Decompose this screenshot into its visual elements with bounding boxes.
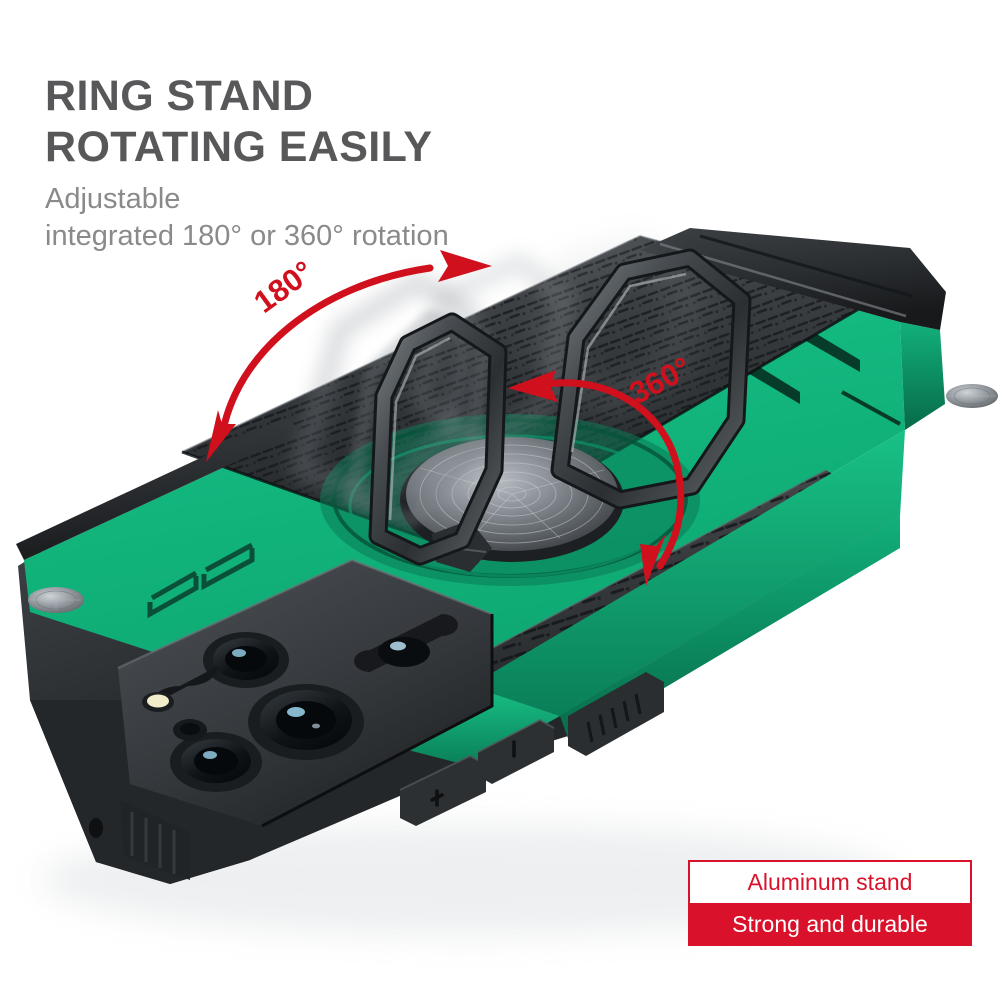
screw-accent-left <box>28 587 84 613</box>
headline-line-1: RING STAND <box>45 72 313 120</box>
camera-lens-top <box>203 632 289 688</box>
feature-badge: Aluminum stand Strong and durable <box>688 860 972 946</box>
camera-lens-main <box>248 684 364 760</box>
subtitle-line-2: integrated 180° or 360° rotation <box>45 218 725 255</box>
camera-sensor <box>173 719 207 741</box>
badge-top-row: Aluminum stand <box>688 860 972 903</box>
badge-top-text: Aluminum stand <box>748 869 913 896</box>
camera-lens-bottom <box>170 732 262 792</box>
product-marketing-canvas: RING STAND ROTATING EASILY Adjustable in… <box>0 0 1000 1000</box>
page-headline: RING STAND ROTATING EASILY <box>45 71 745 172</box>
badge-bottom-text: Strong and durable <box>732 911 928 938</box>
badge-bottom-row: Strong and durable <box>688 903 972 946</box>
headline-line-2: ROTATING EASILY <box>45 122 745 173</box>
screw-accent-right <box>946 384 998 408</box>
page-subtitle: Adjustable integrated 180° or 360° rotat… <box>45 181 725 255</box>
subtitle-line-1: Adjustable <box>45 183 180 215</box>
